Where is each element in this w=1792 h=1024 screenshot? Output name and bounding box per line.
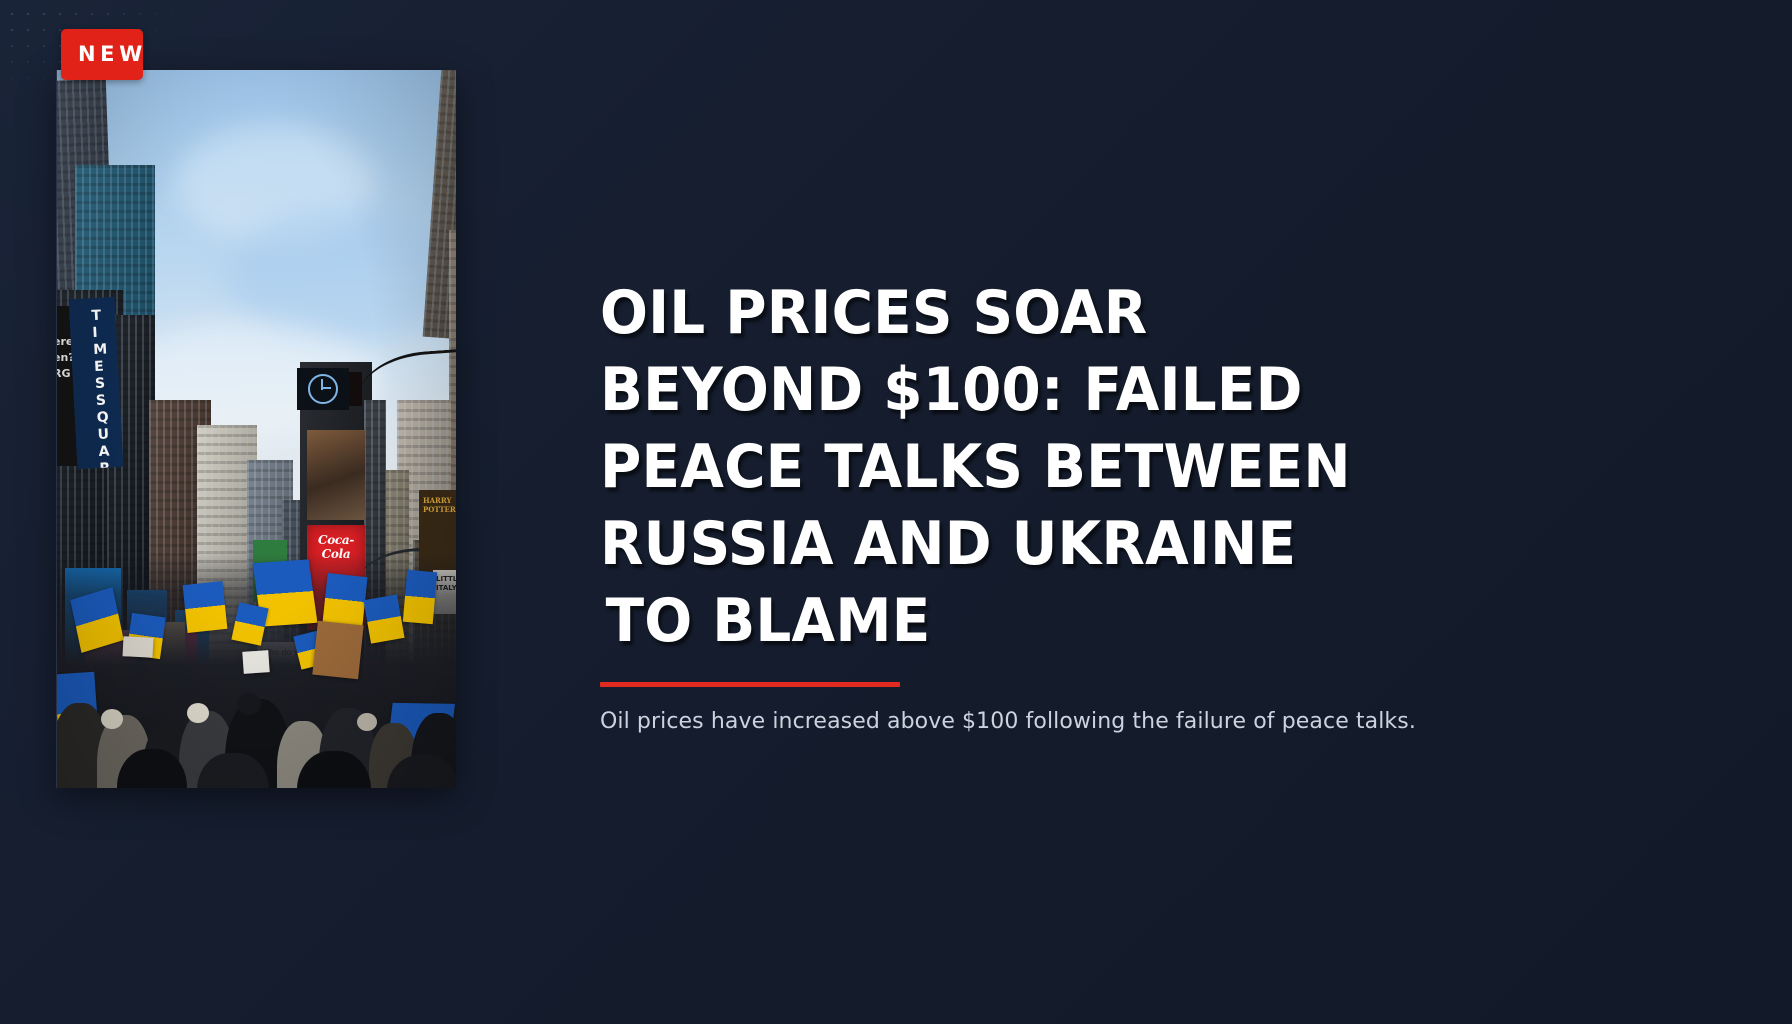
news-card-canvas: NEWS [0, 0, 1792, 1024]
ukrainian-flag [403, 570, 437, 624]
protest-crowd [57, 553, 456, 788]
ukrainian-flag [183, 581, 228, 633]
billboard-times-square: TIMESSQUARE [69, 297, 124, 469]
headline-line: OIL PRICES SOAR [600, 275, 1427, 352]
article-photo: 新华 社 Coca-Cola ere our en? AT RG TIMESSQ… [57, 70, 456, 788]
article-content: OIL PRICES SOARBEYOND $100: FAILEDPEACE … [600, 0, 1700, 1024]
crowd-hat [237, 693, 261, 715]
headline-line: PEACE TALKS BETWEEN [600, 429, 1427, 506]
news-badge: NEWS [61, 29, 143, 80]
accent-divider [600, 682, 900, 687]
harry-potter-text: HARRY POTTER [423, 496, 456, 514]
protest-placard [122, 636, 153, 658]
crowd-hat [187, 703, 209, 723]
headline-line: BEYOND $100: FAILED [600, 352, 1427, 429]
news-badge-label: NEWS [78, 43, 143, 66]
clock-icon [308, 374, 338, 404]
ukrainian-flag [363, 594, 404, 643]
times-square-text: TIMESSQUARE [91, 307, 115, 469]
article-photo-panel: 新华 社 Coca-Cola ere our en? AT RG TIMESSQ… [56, 70, 456, 788]
ukrainian-flag [231, 602, 268, 645]
protest-placard [312, 621, 363, 680]
billboard-upper-ad [307, 430, 365, 520]
headline-line: RUSSIA AND UKRAINE [600, 506, 1427, 583]
article-subtitle: Oil prices have increased above $100 fol… [600, 706, 1620, 738]
article-headline: OIL PRICES SOARBEYOND $100: FAILEDPEACE … [600, 275, 1427, 660]
crowd-hat [357, 713, 377, 731]
clock-billboard [297, 368, 349, 410]
ukrainian-flag [322, 573, 367, 627]
ukrainian-flag [70, 587, 123, 653]
crowd-hat [101, 709, 123, 729]
headline-line: TO BLAME [600, 583, 1427, 660]
protest-placard [242, 650, 269, 674]
